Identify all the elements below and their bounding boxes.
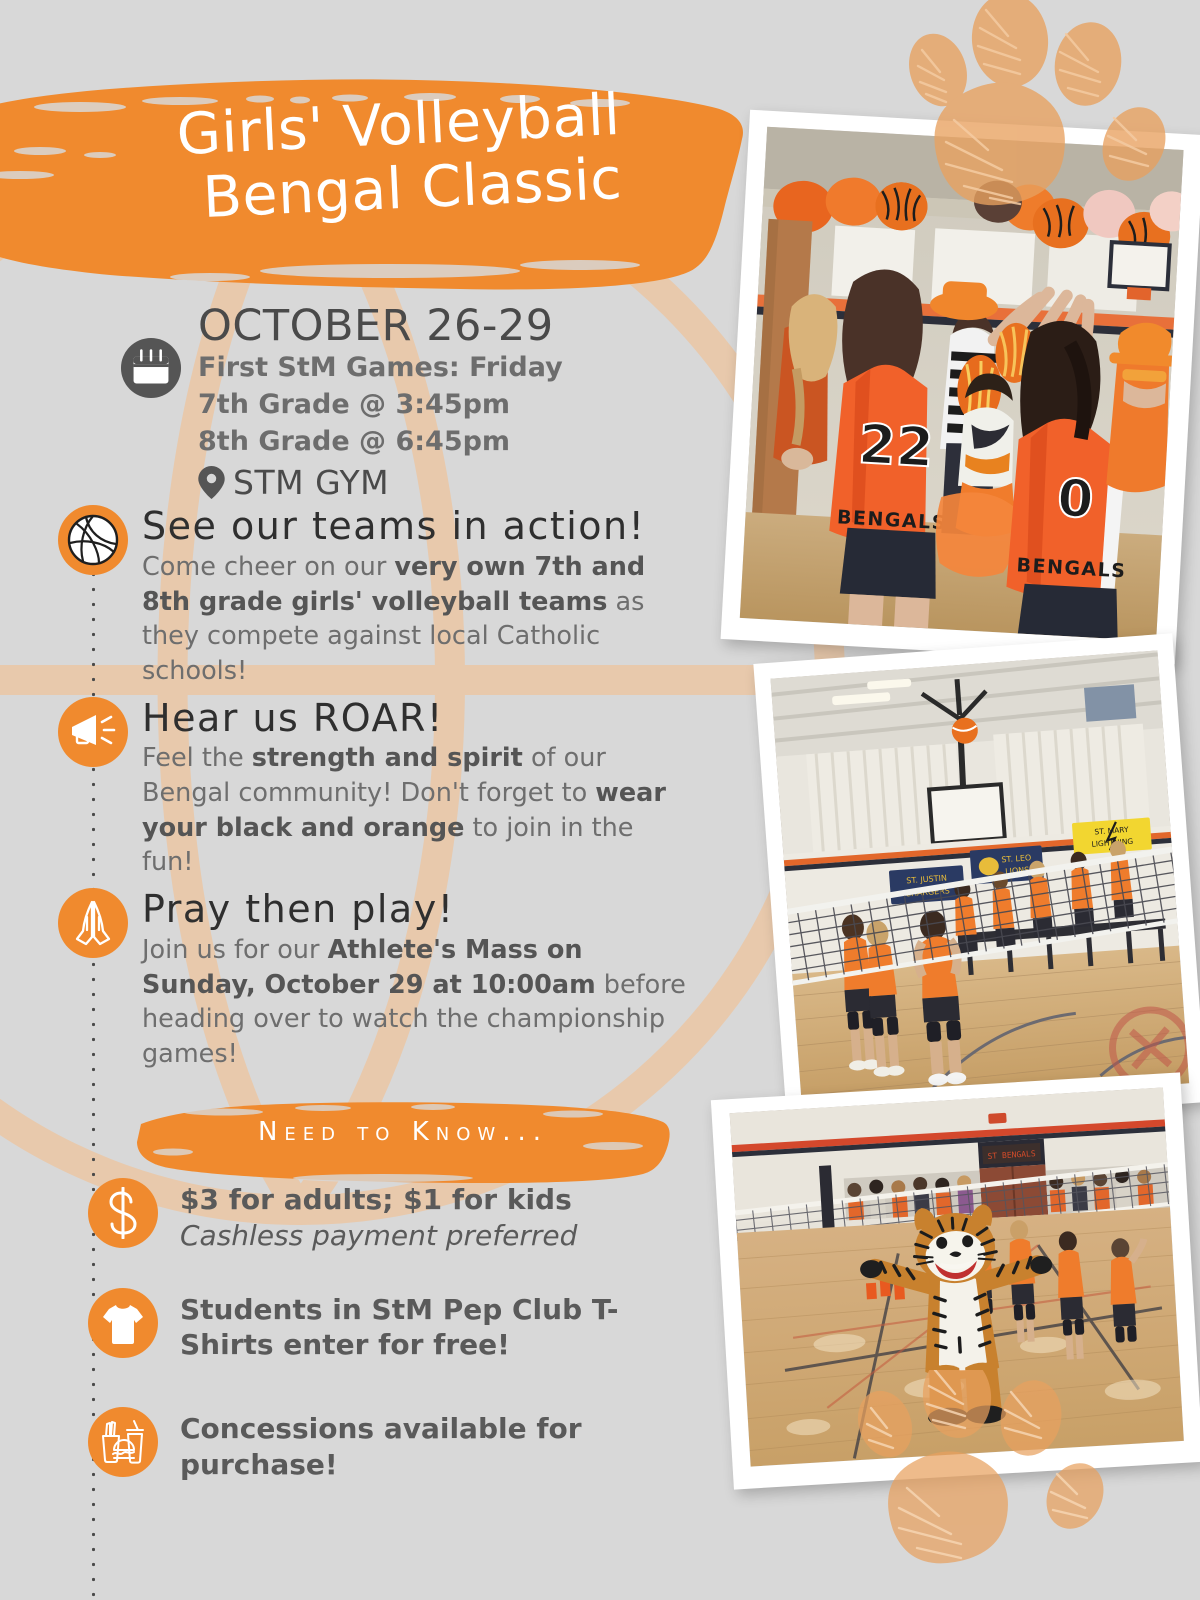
flyer-title: Girls' Volleyball Bengal Classic: [117, 83, 682, 232]
highlight-heading: See our teams in action!: [142, 507, 692, 547]
tiger-mascot-photo: ST BENGALS: [711, 1072, 1200, 1489]
highlights-timeline: See our teams in action! Come cheer on o…: [42, 505, 692, 1074]
highlight-item-mass: Pray then play! Join us for our Athlete'…: [42, 888, 692, 1072]
game-action-photo: ST. JUSTIN CHARGERS ST. LEO LIONS ST. MA…: [753, 633, 1200, 1132]
need-to-know-label: Need to Know...: [133, 1117, 673, 1147]
flyer-canvas: Girls' Volleyball Bengal Classic OCTOBER…: [0, 0, 1200, 1553]
event-location-row: STM GYM: [198, 463, 563, 502]
event-detail-line-1: First StM Games: Friday: [198, 352, 563, 385]
tshirt-icon: [88, 1288, 158, 1358]
event-details: OCTOBER 26-29 First StM Games: Friday 7t…: [120, 305, 563, 502]
event-detail-line-2: 7th Grade @ 3:45pm: [198, 389, 563, 422]
need-to-know-main: Students in StM Pep Club T-Shirts enter …: [180, 1292, 708, 1364]
volleyball-icon: [58, 505, 128, 575]
svg-text:22: 22: [857, 412, 936, 479]
need-to-know-item-tshirt: Students in StM Pep Club T-Shirts enter …: [88, 1288, 708, 1364]
event-dates: OCTOBER 26-29: [198, 305, 563, 348]
highlight-item-teams: See our teams in action! Come cheer on o…: [42, 505, 692, 689]
highlight-heading: Hear us ROAR!: [142, 699, 692, 739]
highlight-body: Feel the strength and spirit of our Beng…: [142, 741, 692, 880]
event-detail-line-3: 8th Grade @ 6:45pm: [198, 426, 563, 459]
event-location: STM GYM: [233, 463, 389, 502]
svg-text:0: 0: [1056, 469, 1095, 531]
megaphone-icon: [58, 697, 128, 767]
map-pin-icon: [198, 466, 225, 499]
need-to-know-main: $3 for adults; $1 for kids: [180, 1182, 708, 1218]
highlight-item-roar: Hear us ROAR! Feel the strength and spir…: [42, 697, 692, 881]
need-to-know-item-price: $3 for adults; $1 for kids Cashless paym…: [88, 1178, 708, 1254]
team-huddle-photo: 22 BENGALS: [721, 110, 1200, 665]
calendar-icon: [120, 337, 182, 399]
praying-hands-icon: [58, 888, 128, 958]
need-to-know-main: Concessions available for purchase!: [180, 1411, 708, 1483]
need-to-know-item-concessions: Concessions available for purchase!: [88, 1407, 708, 1483]
highlight-heading: Pray then play!: [142, 890, 692, 930]
highlight-body: Come cheer on our very own 7th and 8th g…: [142, 550, 692, 689]
dollar-sign-icon: [88, 1178, 158, 1248]
need-to-know-list: $3 for adults; $1 for kids Cashless paym…: [88, 1178, 708, 1517]
highlight-body: Join us for our Athlete's Mass on Sunday…: [142, 933, 692, 1072]
concessions-icon: [88, 1407, 158, 1477]
need-to-know-sub: Cashless payment preferred: [180, 1218, 708, 1254]
